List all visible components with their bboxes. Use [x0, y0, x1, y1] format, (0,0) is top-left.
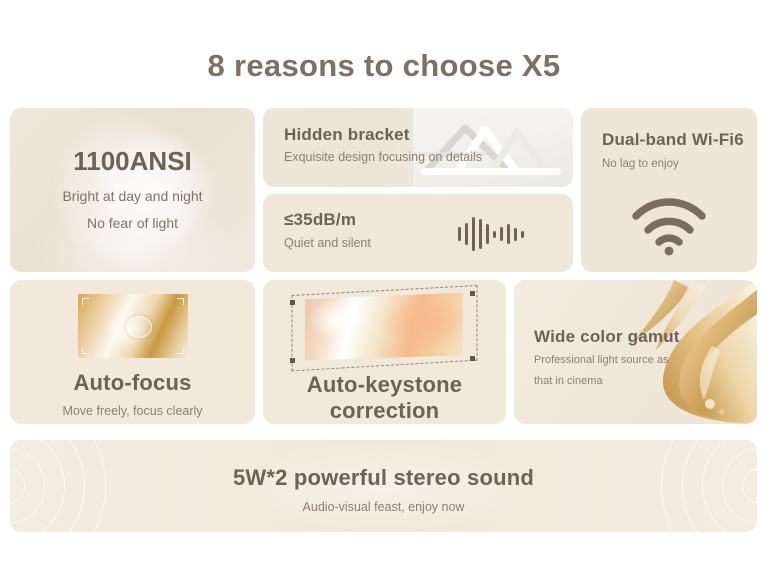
card-brightness[interactable]: 1100ANSI Bright at day and night No fear…: [10, 108, 255, 272]
waveform-bar-1: [465, 223, 468, 245]
focus-corner-br-icon: [177, 347, 184, 354]
keystone-handle-br[interactable]: [470, 356, 475, 361]
keystone-handle-tl[interactable]: [290, 300, 295, 305]
card-noise-level[interactable]: ≤35dB/m Quiet and silent: [263, 194, 573, 272]
keystone-handle-bl[interactable]: [290, 358, 295, 363]
waveform-bar-2: [472, 217, 475, 251]
bracket-label-group: Hidden bracket Exquisite design focusing…: [284, 125, 482, 164]
focus-headline: Auto-focus: [10, 370, 255, 396]
page-title: 8 reasons to choose X5: [0, 48, 768, 84]
wifi-icon: [630, 194, 708, 256]
keystone-handle-tr[interactable]: [470, 291, 475, 296]
gamut-subtext-line-2: that in cinema: [534, 375, 680, 389]
focus-ring-icon: [126, 316, 152, 338]
wifi-label-group: Dual-band Wi-Fi6 No lag to enjoy: [602, 130, 744, 171]
waveform-bar-4: [486, 224, 489, 244]
noise-label-group: ≤35dB/m Quiet and silent: [284, 210, 371, 250]
keystone-dashed-outline: [291, 285, 477, 371]
focus-corner-tr-icon: [177, 298, 184, 305]
gamut-label-group: Wide color gamut Professional light sour…: [534, 327, 680, 389]
focus-thumbnail: [78, 294, 188, 358]
waveform-bar-0: [458, 227, 461, 241]
focus-corner-bl-icon: [82, 347, 89, 354]
infographic-page: 8 reasons to choose X5 1100ANSI Bright a…: [0, 0, 768, 576]
waveform-bar-7: [507, 224, 510, 244]
banner-stereo-sound[interactable]: 5W*2 powerful stereo sound Audio-visual …: [10, 440, 757, 532]
card-hidden-bracket[interactable]: Hidden bracket Exquisite design focusing…: [263, 108, 573, 187]
brightness-headline: 1100ANSI: [10, 146, 255, 177]
gamut-subtext-line-1: Professional light source as: [534, 354, 680, 368]
bracket-headline: Hidden bracket: [284, 125, 482, 145]
focus-subtext: Move freely, focus clearly: [10, 404, 255, 418]
wifi-headline: Dual-band Wi-Fi6: [602, 130, 744, 150]
wifi-subtext: No lag to enjoy: [602, 157, 744, 171]
waveform-bar-5: [493, 231, 496, 238]
gamut-headline: Wide color gamut: [534, 327, 680, 347]
bracket-subtext: Exquisite design focusing on details: [284, 150, 482, 164]
brightness-line-2: No fear of light: [10, 215, 255, 231]
brightness-line-1: Bright at day and night: [10, 188, 255, 204]
audio-waveform-icon: [458, 214, 524, 254]
card-wifi[interactable]: Dual-band Wi-Fi6 No lag to enjoy: [581, 108, 757, 272]
noise-subtext: Quiet and silent: [284, 236, 371, 250]
noise-headline: ≤35dB/m: [284, 210, 371, 230]
sound-label-group: 5W*2 powerful stereo sound Audio-visual …: [10, 465, 757, 514]
waveform-bar-9: [521, 231, 524, 238]
keystone-quad-icon: [292, 290, 478, 366]
keystone-label-group: Auto-keystone correction Wonderful visio…: [263, 372, 506, 424]
waveform-bar-6: [500, 227, 503, 241]
waveform-bar-8: [514, 228, 517, 241]
focus-label-group: Auto-focus Move freely, focus clearly: [10, 370, 255, 418]
waveform-bar-3: [479, 219, 482, 249]
keystone-headline: Auto-keystone correction: [263, 372, 506, 424]
card-auto-focus[interactable]: Auto-focus Move freely, focus clearly: [10, 280, 255, 424]
focus-corner-tl-icon: [82, 298, 89, 305]
card-auto-keystone[interactable]: Auto-keystone correction Wonderful visio…: [263, 280, 506, 424]
card-wide-color-gamut[interactable]: Wide color gamut Professional light sour…: [514, 280, 757, 424]
sound-subtext: Audio-visual feast, enjoy now: [10, 500, 757, 514]
sound-headline: 5W*2 powerful stereo sound: [10, 465, 757, 491]
